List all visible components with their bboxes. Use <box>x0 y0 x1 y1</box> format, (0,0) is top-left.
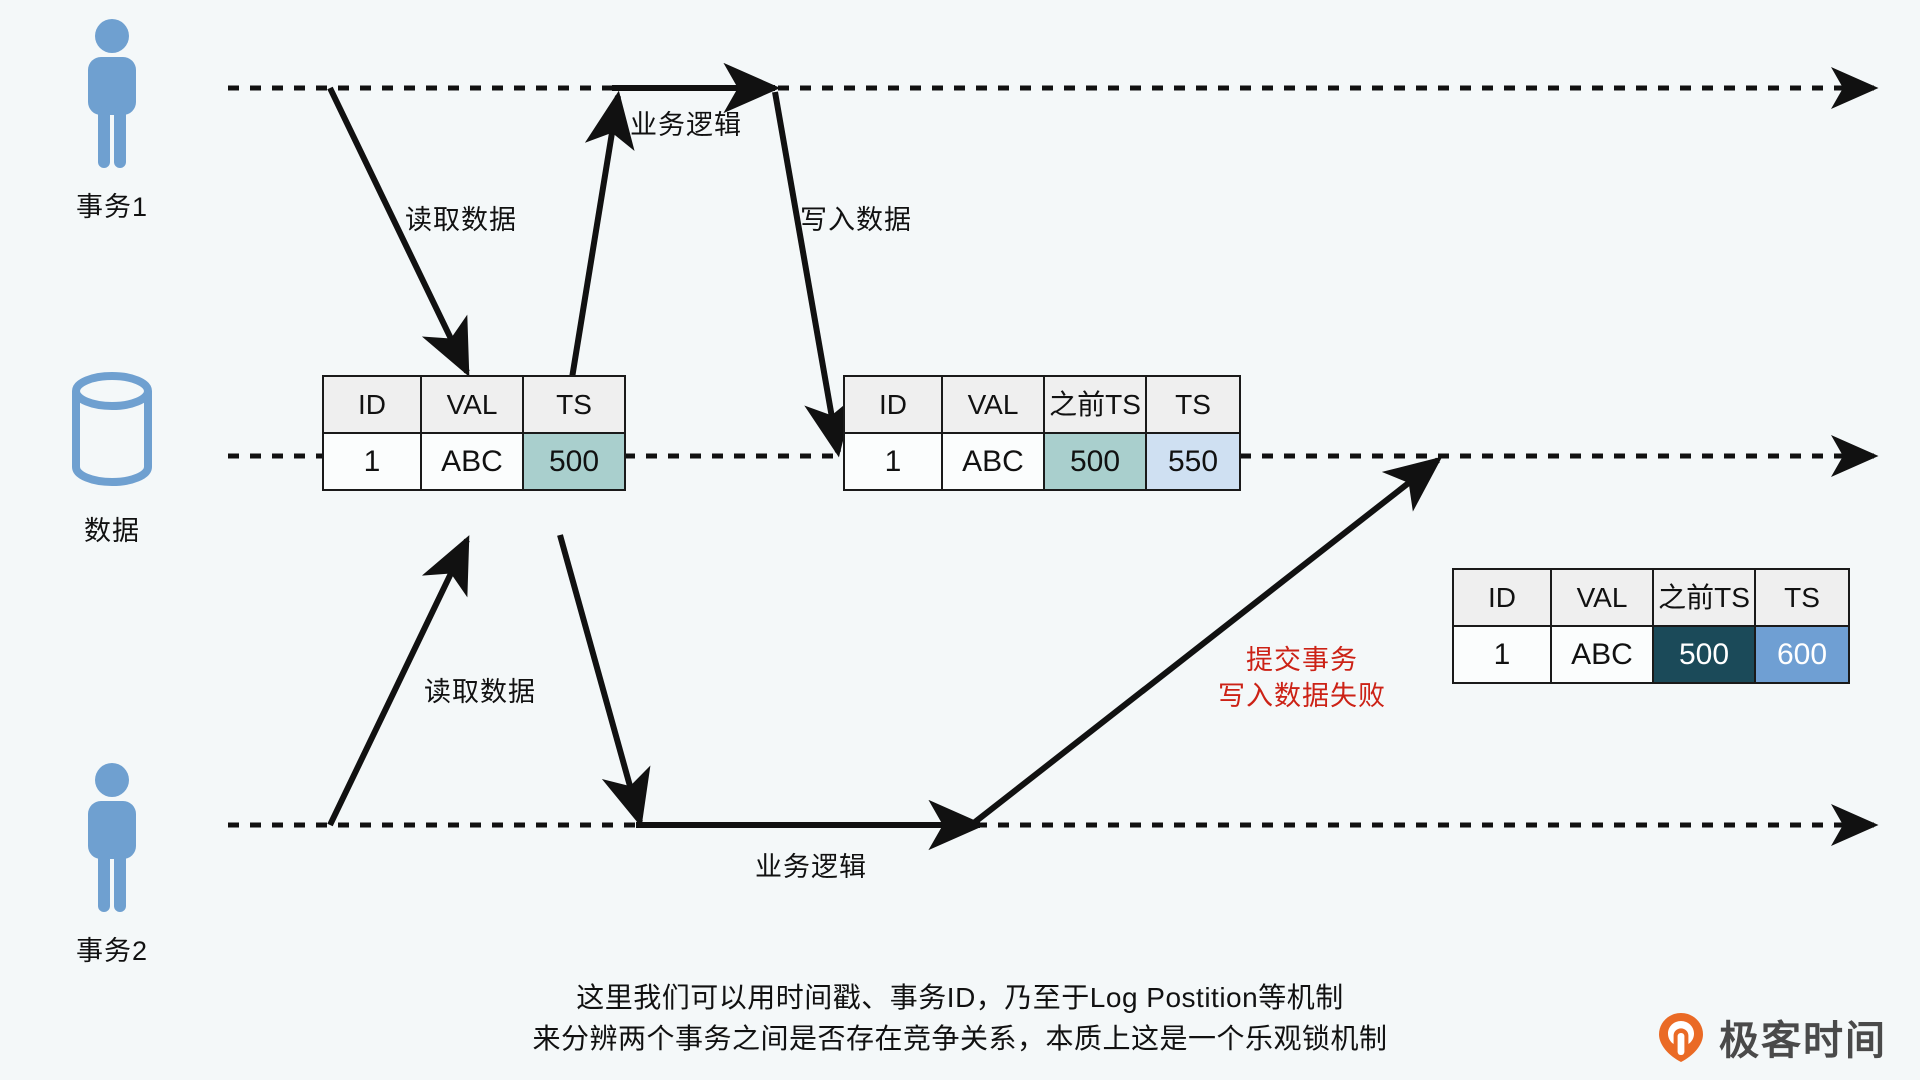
actor-tx2: 事务2 <box>22 762 202 968</box>
brand-geektime: 极客时间 <box>1655 1008 1887 1066</box>
table-3-cell-prev-ts: 500 <box>1653 626 1755 683</box>
table-2-data-row: 1 ABC 500 550 <box>844 433 1240 490</box>
table-2-cell-id: 1 <box>844 433 942 490</box>
caption-line-1: 这里我们可以用时间戳、事务ID，乃至于Log Postition等机制 <box>0 978 1920 1019</box>
label-commit-line2: 写入数据失败 <box>1218 679 1386 715</box>
actor-tx1-label: 事务1 <box>22 185 202 224</box>
arrow-tx1-write <box>775 92 838 452</box>
caption-line-2: 来分辨两个事务之间是否存在竞争关系，本质上这是一个乐观锁机制 <box>0 1019 1920 1060</box>
table-1-header-row: ID VAL TS <box>323 376 625 433</box>
table-2-cell-ts: 550 <box>1146 433 1240 490</box>
actor-tx1: 事务1 <box>22 18 202 224</box>
table-1-cell-ts: 500 <box>523 433 625 490</box>
geektime-logo-icon <box>1655 1011 1707 1063</box>
table-1-cell-val: ABC <box>421 433 523 490</box>
table-3-data-row: 1 ABC 500 600 <box>1453 626 1849 683</box>
table-1-cell-id: 1 <box>323 433 421 490</box>
actor-database-label: 数据 <box>22 509 202 548</box>
table-3-cell-val: ABC <box>1551 626 1653 683</box>
table-2-cell-prev-ts: 500 <box>1044 433 1146 490</box>
connector-layer <box>0 0 1920 1080</box>
table-1-header-val: VAL <box>421 376 523 433</box>
label-tx1-read: 读取数据 <box>405 198 517 237</box>
table-2-header-prev-ts: 之前TS <box>1044 376 1146 433</box>
label-tx2-commit-fail: 提交事务 写入数据失败 <box>1218 643 1386 714</box>
person-icon <box>72 18 152 168</box>
table-2-cell-val: ABC <box>942 433 1044 490</box>
table-1-data-row: 1 ABC 500 <box>323 433 625 490</box>
database-icon <box>62 372 162 492</box>
label-tx1-business-logic: 业务逻辑 <box>630 103 742 142</box>
arrow-tx2-result-down <box>560 535 640 822</box>
brand-name-label: 极客时间 <box>1719 1008 1887 1066</box>
table-2: ID VAL 之前TS TS 1 ABC 500 550 <box>843 375 1241 491</box>
caption-block: 这里我们可以用时间戳、事务ID，乃至于Log Postition等机制 来分辨两… <box>0 978 1920 1059</box>
table-2-header-val: VAL <box>942 376 1044 433</box>
table-3-header-row: ID VAL 之前TS TS <box>1453 569 1849 626</box>
table-3-cell-ts: 600 <box>1755 626 1849 683</box>
arrow-tx1-result-up <box>572 96 618 378</box>
table-1-header-id: ID <box>323 376 421 433</box>
label-tx2-business-logic: 业务逻辑 <box>755 845 867 884</box>
actor-database: 数据 <box>22 372 202 548</box>
table-3-header-val: VAL <box>1551 569 1653 626</box>
table-1-header-ts: TS <box>523 376 625 433</box>
actor-tx2-label: 事务2 <box>22 929 202 968</box>
table-2-header-id: ID <box>844 376 942 433</box>
table-3-header-ts: TS <box>1755 569 1849 626</box>
diagram-canvas: 事务1 数据 事务2 读取数据 业务逻辑 写入数据 读取数据 业务逻辑 提交事务… <box>0 0 1920 1080</box>
table-2-header-row: ID VAL 之前TS TS <box>844 376 1240 433</box>
person-icon <box>72 762 152 912</box>
table-3-cell-id: 1 <box>1453 626 1551 683</box>
table-3: ID VAL 之前TS TS 1 ABC 500 600 <box>1452 568 1850 684</box>
table-1: ID VAL TS 1 ABC 500 <box>322 375 626 491</box>
label-tx2-read: 读取数据 <box>424 670 536 709</box>
arrow-tx2-commit-fail <box>975 460 1438 822</box>
label-commit-line1: 提交事务 <box>1218 643 1386 679</box>
label-tx1-write: 写入数据 <box>800 198 912 237</box>
table-3-header-id: ID <box>1453 569 1551 626</box>
table-2-header-ts: TS <box>1146 376 1240 433</box>
table-3-header-prev-ts: 之前TS <box>1653 569 1755 626</box>
